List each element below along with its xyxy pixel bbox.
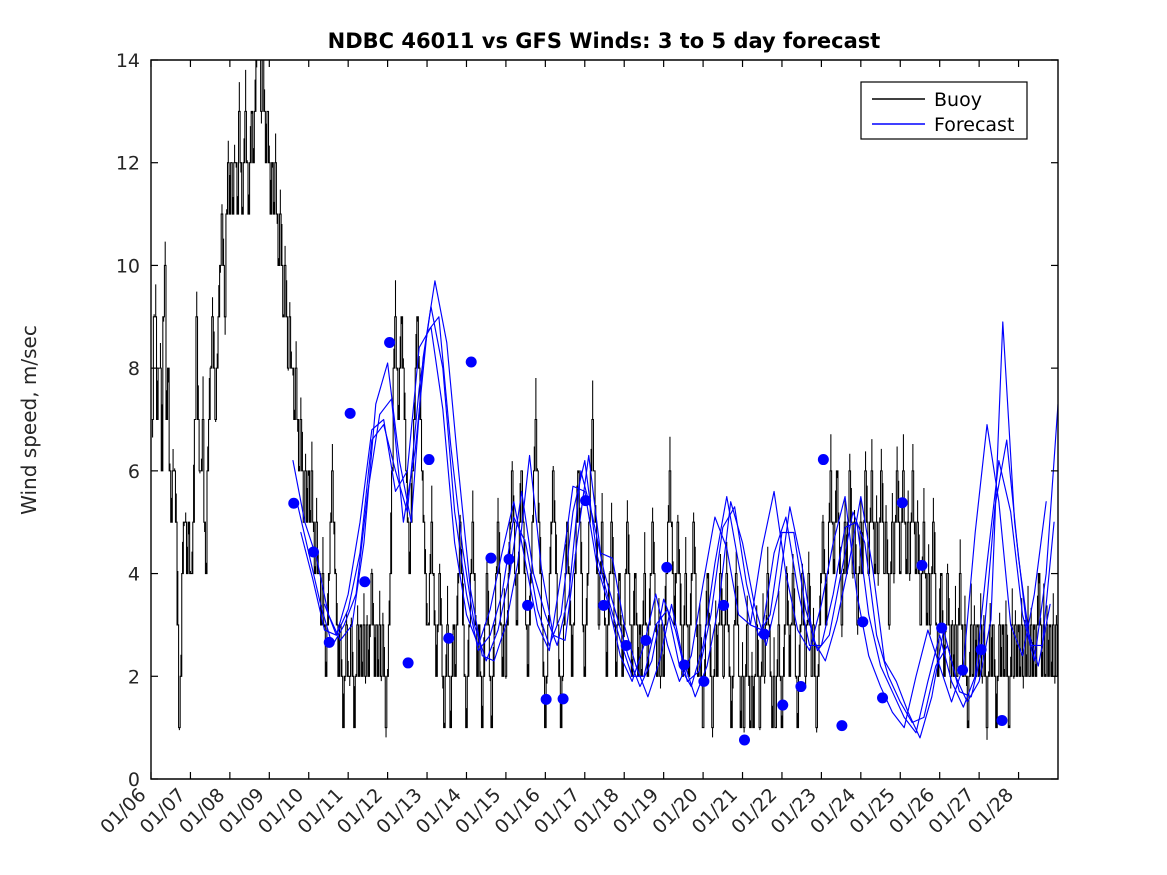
- forecast-marker-dot: [598, 600, 609, 611]
- forecast-marker-dot: [522, 600, 533, 611]
- wind-speed-chart: NDBC 46011 vs GFS Winds: 3 to 5 day fore…: [0, 0, 1167, 875]
- x-tick-label: 01/28: [964, 784, 1018, 838]
- forecast-marker-dot: [485, 553, 496, 564]
- forecast-marker-dot: [324, 637, 335, 648]
- forecast-marker-dot: [777, 700, 788, 711]
- forecast-marker-dot: [976, 644, 987, 655]
- y-tick-label: 10: [116, 255, 140, 277]
- forecast-marker-dot: [424, 454, 435, 465]
- forecast-marker-dot: [403, 657, 414, 668]
- forecast-marker-dot: [384, 337, 395, 348]
- forecast-marker-dot: [661, 562, 672, 573]
- forecast-marker-dot: [916, 560, 927, 571]
- forecast-marker-dot: [504, 554, 515, 565]
- forecast-marker-dot: [795, 681, 806, 692]
- x-axis-ticks: 01/0601/0701/0801/0901/1001/1101/1201/13…: [96, 60, 1018, 838]
- forecast-marker-dot: [698, 676, 709, 687]
- forecast-marker-dot: [288, 498, 299, 509]
- forecast-marker-dot: [466, 356, 477, 367]
- forecast-marker-dot: [857, 616, 868, 627]
- forecast-marker-dot: [897, 497, 908, 508]
- forecast-marker-dot: [580, 495, 591, 506]
- chart-title: NDBC 46011 vs GFS Winds: 3 to 5 day fore…: [328, 29, 881, 53]
- forecast-marker-dot: [818, 454, 829, 465]
- legend-label-buoy: Buoy: [934, 89, 982, 111]
- forecast-marker-dot: [621, 640, 632, 651]
- forecast-marker-dot: [359, 576, 370, 587]
- legend-label-forecast: Forecast: [934, 114, 1014, 136]
- forecast-marker-dot: [308, 547, 319, 558]
- y-tick-label: 6: [128, 461, 140, 483]
- y-tick-label: 14: [116, 50, 140, 72]
- forecast-marker-dot: [877, 692, 888, 703]
- forecast-marker-dot: [997, 715, 1008, 726]
- forecast-marker-dot: [443, 633, 454, 644]
- forecast-marker-dot: [718, 600, 729, 611]
- chart-page: NDBC 46011 vs GFS Winds: 3 to 5 day fore…: [0, 0, 1167, 875]
- y-tick-label: 4: [128, 564, 140, 586]
- forecast-marker-dot: [345, 408, 356, 419]
- forecast-marker-dot: [759, 629, 770, 640]
- forecast-marker-dot: [836, 720, 847, 731]
- forecast-marker-dot: [558, 693, 569, 704]
- chart-legend[interactable]: Buoy Forecast: [861, 82, 1027, 139]
- y-tick-label: 8: [128, 358, 140, 380]
- y-axis-label: Wind speed, m/sec: [17, 325, 41, 515]
- forecast-marker-dot: [679, 659, 690, 670]
- y-tick-label: 2: [128, 666, 140, 688]
- forecast-marker-dot: [739, 734, 750, 745]
- plot-frame: [151, 60, 1058, 779]
- y-tick-label: 12: [116, 153, 140, 175]
- axes-frame: [151, 60, 1058, 779]
- forecast-marker-dot: [957, 665, 968, 676]
- y-axis-ticks: 02468101214: [116, 50, 1058, 791]
- forecast-marker-dot: [640, 635, 651, 646]
- forecast-marker-dot: [541, 694, 552, 705]
- forecast-marker-dot: [936, 623, 947, 634]
